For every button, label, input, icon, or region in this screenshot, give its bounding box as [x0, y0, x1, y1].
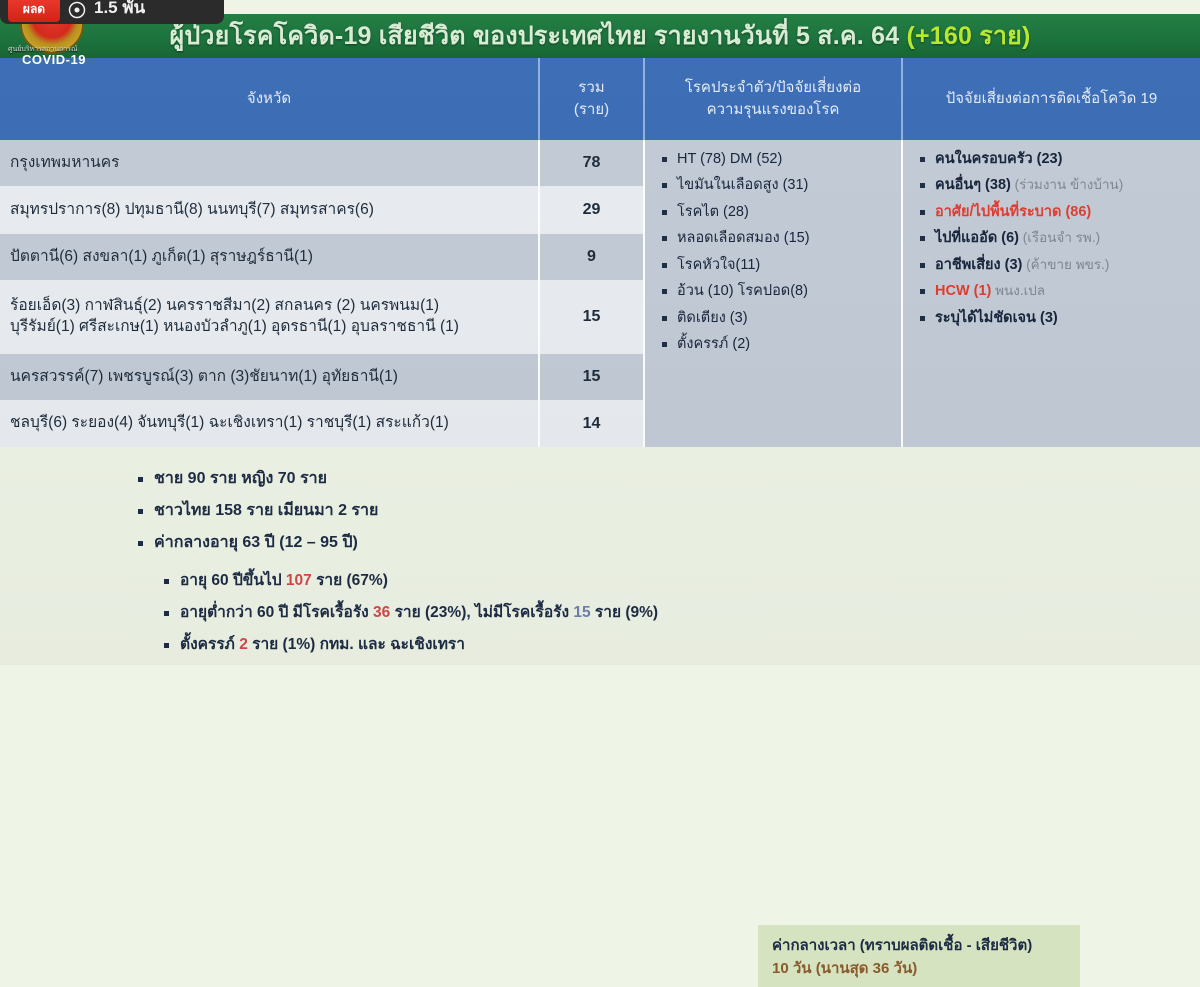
- cell-province: ปัตตานี(6) สงขลา(1) ภูเก็ต(1) สุราษฎร์ธา…: [0, 234, 540, 280]
- comorbidity-item: โรคไต (28): [659, 203, 901, 222]
- comorbidity-item: ติดเตียง (3): [659, 309, 901, 328]
- overlay-view-count: 1.5 พัน: [94, 0, 145, 21]
- province-line: ปัตตานี(6) สงขลา(1) ภูเก็ต(1) สุราษฎร์ธา…: [10, 247, 313, 268]
- risk-item: HCW (1) พนง.เปล: [917, 282, 1200, 301]
- risk-list: คนในครอบครัว (23)คนอื่นๆ (38) (ร่วมงาน ข…: [917, 150, 1200, 328]
- cell-province: สมุทรปราการ(8) ปทุมธานี(8) นนทบุรี(7) สม…: [0, 186, 540, 234]
- column-header-comorbidity: โรคประจำตัว/ปัจจัยเสี่ยงต่อ ความรุนแรงขอ…: [645, 58, 903, 140]
- comorbidity-column: HT (78) DM (52)ไขมันในเลือดสูง (31)โรคไต…: [645, 140, 903, 447]
- cell-total: 78: [540, 140, 645, 186]
- eye-icon: [68, 1, 86, 19]
- risk-item-text: ไปที่แออัด (6): [935, 230, 1019, 246]
- comorbidity-item-text: ไขมันในเลือดสูง (31): [677, 177, 808, 193]
- risk-item-text: อาชีพเสี่ยง (3): [935, 257, 1022, 273]
- comorbidity-item: โรคหัวใจ(11): [659, 256, 901, 275]
- column-header-total: รวม (ราย): [540, 58, 645, 140]
- column-header-comorbidity-line2: ความรุนแรงของโรค: [685, 99, 861, 121]
- cell-province: ร้อยเอ็ด(3) กาฬสินธุ์(2) นครราชสีมา(2) ส…: [0, 280, 540, 354]
- cell-province: กรุงเทพมหานคร: [0, 140, 540, 186]
- risk-column: คนในครอบครัว (23)คนอื่นๆ (38) (ร่วมงาน ข…: [903, 140, 1200, 447]
- risk-item-text: อาศัย/ไปพื้นที่ระบาด (86): [935, 204, 1091, 220]
- sub-item-highlight: 107: [286, 572, 312, 589]
- risk-item-note: พนง.เปล: [991, 283, 1045, 298]
- comorbidity-item-text: หลอดเลือดสมอง (15): [677, 230, 810, 246]
- risk-item: คนในครอบครัว (23): [917, 150, 1200, 169]
- cell-province: ชลบุรี(6) ระยอง(4) จันทบุรี(1) ฉะเชิงเทร…: [0, 400, 540, 447]
- summary-section: ชาย 90 ราย หญิง 70 รายชาวไทย 158 ราย เมี…: [0, 447, 1200, 665]
- risk-item-text: คนในครอบครัว (23): [935, 151, 1062, 167]
- table-header-row: จังหวัด รวม (ราย) โรคประจำตัว/ปัจจัยเสี่…: [0, 58, 1200, 140]
- sub-item-prefix: ตั้งครรภ์: [180, 636, 239, 653]
- sub-item-middle: ราย (1%) กทม. และ ฉะเชิงเทรา: [248, 636, 465, 653]
- summary-sub-item: อายุต่ำกว่า 60 ปี มีโรคเรื้อรัง 36 ราย (…: [162, 603, 658, 623]
- comorbidity-item-text: ติดเตียง (3): [677, 310, 748, 326]
- sub-item-middle: ราย (23%), ไม่มีโรคเรื้อรัง: [390, 604, 573, 621]
- sub-item-suffix: ราย (9%): [591, 604, 658, 621]
- risk-item-text: HCW (1): [935, 283, 991, 299]
- province-line: ชลบุรี(6) ระยอง(4) จันทบุรี(1) ฉะเชิงเทร…: [10, 413, 449, 434]
- province-line: นครสวรรค์(7) เพชรบูรณ์(3) ตาก (3)ชัยนาท(…: [10, 367, 398, 388]
- risk-item: ระบุได้ไม่ชัดเจน (3): [917, 309, 1200, 328]
- summary-list: ชาย 90 ราย หญิง 70 รายชาวไทย 158 ราย เมี…: [136, 469, 378, 564]
- comorbidity-item: ไขมันในเลือดสูง (31): [659, 176, 901, 195]
- comorbidity-item-text: โรคหัวใจ(11): [677, 257, 760, 273]
- risk-item-text: ระบุได้ไม่ชัดเจน (3): [935, 310, 1058, 326]
- column-header-risk: ปัจจัยเสี่ยงต่อการติดเชื้อโควิด 19: [903, 58, 1200, 140]
- column-header-total-line2: (ราย): [574, 99, 609, 121]
- cell-total: 14: [540, 400, 645, 447]
- median-time-value: 10 วัน (นานสุด 36 วัน): [772, 957, 1066, 980]
- province-line: กรุงเทพมหานคร: [10, 153, 119, 174]
- summary-sub-item: ตั้งครรภ์ 2 ราย (1%) กทม. และ ฉะเชิงเทรา: [162, 635, 658, 655]
- view-count-overlay: ผลด 1.5 พัน: [0, 0, 224, 24]
- summary-sub-list: อายุ 60 ปีขึ้นไป 107 ราย (67%)อายุต่ำกว่…: [162, 571, 658, 667]
- cell-province: นครสวรรค์(7) เพชรบูรณ์(3) ตาก (3)ชัยนาท(…: [0, 354, 540, 400]
- cell-total: 15: [540, 280, 645, 354]
- summary-item: ชาย 90 ราย หญิง 70 ราย: [136, 469, 378, 490]
- comorbidity-item: ตั้งครรภ์ (2): [659, 335, 901, 354]
- deaths-table: จังหวัด รวม (ราย) โรคประจำตัว/ปัจจัยเสี่…: [0, 58, 1200, 447]
- cell-total: 15: [540, 354, 645, 400]
- banner-title-text: ผู้ป่วยโรคโควิด-19 เสียชีวิต ของประเทศไท…: [170, 22, 907, 50]
- banner-title: ผู้ป่วยโรคโควิด-19 เสียชีวิต ของประเทศไท…: [170, 16, 1031, 56]
- risk-item: ไปที่แออัด (6) (เรือนจำ รพ.): [917, 229, 1200, 248]
- sub-item-prefix: อายุ 60 ปีขึ้นไป: [180, 572, 286, 589]
- cell-total: 29: [540, 186, 645, 234]
- risk-item: อาศัย/ไปพื้นที่ระบาด (86): [917, 203, 1200, 222]
- province-line: สมุทรปราการ(8) ปทุมธานี(8) นนทบุรี(7) สม…: [10, 200, 374, 221]
- summary-item: ค่ากลางอายุ 63 ปี (12 – 95 ปี): [136, 533, 378, 554]
- comorbidity-item-text: อ้วน (10) โรคปอด(8): [677, 283, 808, 299]
- median-time-label: ค่ากลางเวลา (ทราบผลติดเชื้อ - เสียชีวิต): [772, 934, 1066, 957]
- sub-item-highlight: 15: [573, 604, 590, 621]
- cell-total: 9: [540, 234, 645, 280]
- summary-item: ชาวไทย 158 ราย เมียนมา 2 ราย: [136, 501, 378, 522]
- banner-new-cases-count: (+160 ราย): [906, 22, 1030, 50]
- sub-item-middle: ราย (67%): [312, 572, 388, 589]
- column-header-comorbidity-line1: โรคประจำตัว/ปัจจัยเสี่ยงต่อ: [685, 77, 861, 99]
- risk-item-note: (ร่วมงาน ข้างบ้าน): [1011, 177, 1123, 192]
- risk-item-text: คนอื่นๆ (38): [935, 177, 1011, 193]
- sub-item-highlight: 2: [239, 636, 248, 653]
- comorbidity-item-text: HT (78) DM (52): [677, 151, 782, 167]
- comorbidity-item-text: ตั้งครรภ์ (2): [677, 336, 750, 352]
- column-header-total-line1: รวม: [574, 77, 609, 99]
- median-time-box: ค่ากลางเวลา (ทราบผลติดเชื้อ - เสียชีวิต)…: [758, 925, 1080, 987]
- province-line: ร้อยเอ็ด(3) กาฬสินธุ์(2) นครราชสีมา(2) ส…: [10, 296, 459, 317]
- comorbidity-item: อ้วน (10) โรคปอด(8): [659, 282, 901, 301]
- logo-covid-label: COVID-19: [22, 52, 86, 67]
- risk-item-note: (เรือนจำ รพ.): [1019, 230, 1100, 245]
- comorbidity-item: HT (78) DM (52): [659, 150, 901, 169]
- risk-item: คนอื่นๆ (38) (ร่วมงาน ข้างบ้าน): [917, 176, 1200, 195]
- risk-item: อาชีพเสี่ยง (3) (ค้าขาย พขร.): [917, 256, 1200, 275]
- sub-item-prefix: อายุต่ำกว่า 60 ปี มีโรคเรื้อรัง: [180, 604, 373, 621]
- summary-sub-item: อายุ 60 ปีขึ้นไป 107 ราย (67%): [162, 571, 658, 591]
- province-line: บุรีรัมย์(1) ศรีสะเกษ(1) หนองบัวลำภู(1) …: [10, 317, 459, 338]
- comorbidity-item: หลอดเลือดสมอง (15): [659, 229, 901, 248]
- comorbidity-item-text: โรคไต (28): [677, 204, 749, 220]
- comorbidity-list: HT (78) DM (52)ไขมันในเลือดสูง (31)โรคไต…: [659, 150, 901, 354]
- risk-item-note: (ค้าขาย พขร.): [1022, 257, 1109, 272]
- sub-item-highlight: 36: [373, 604, 390, 621]
- overlay-badge: ผลด: [8, 0, 60, 22]
